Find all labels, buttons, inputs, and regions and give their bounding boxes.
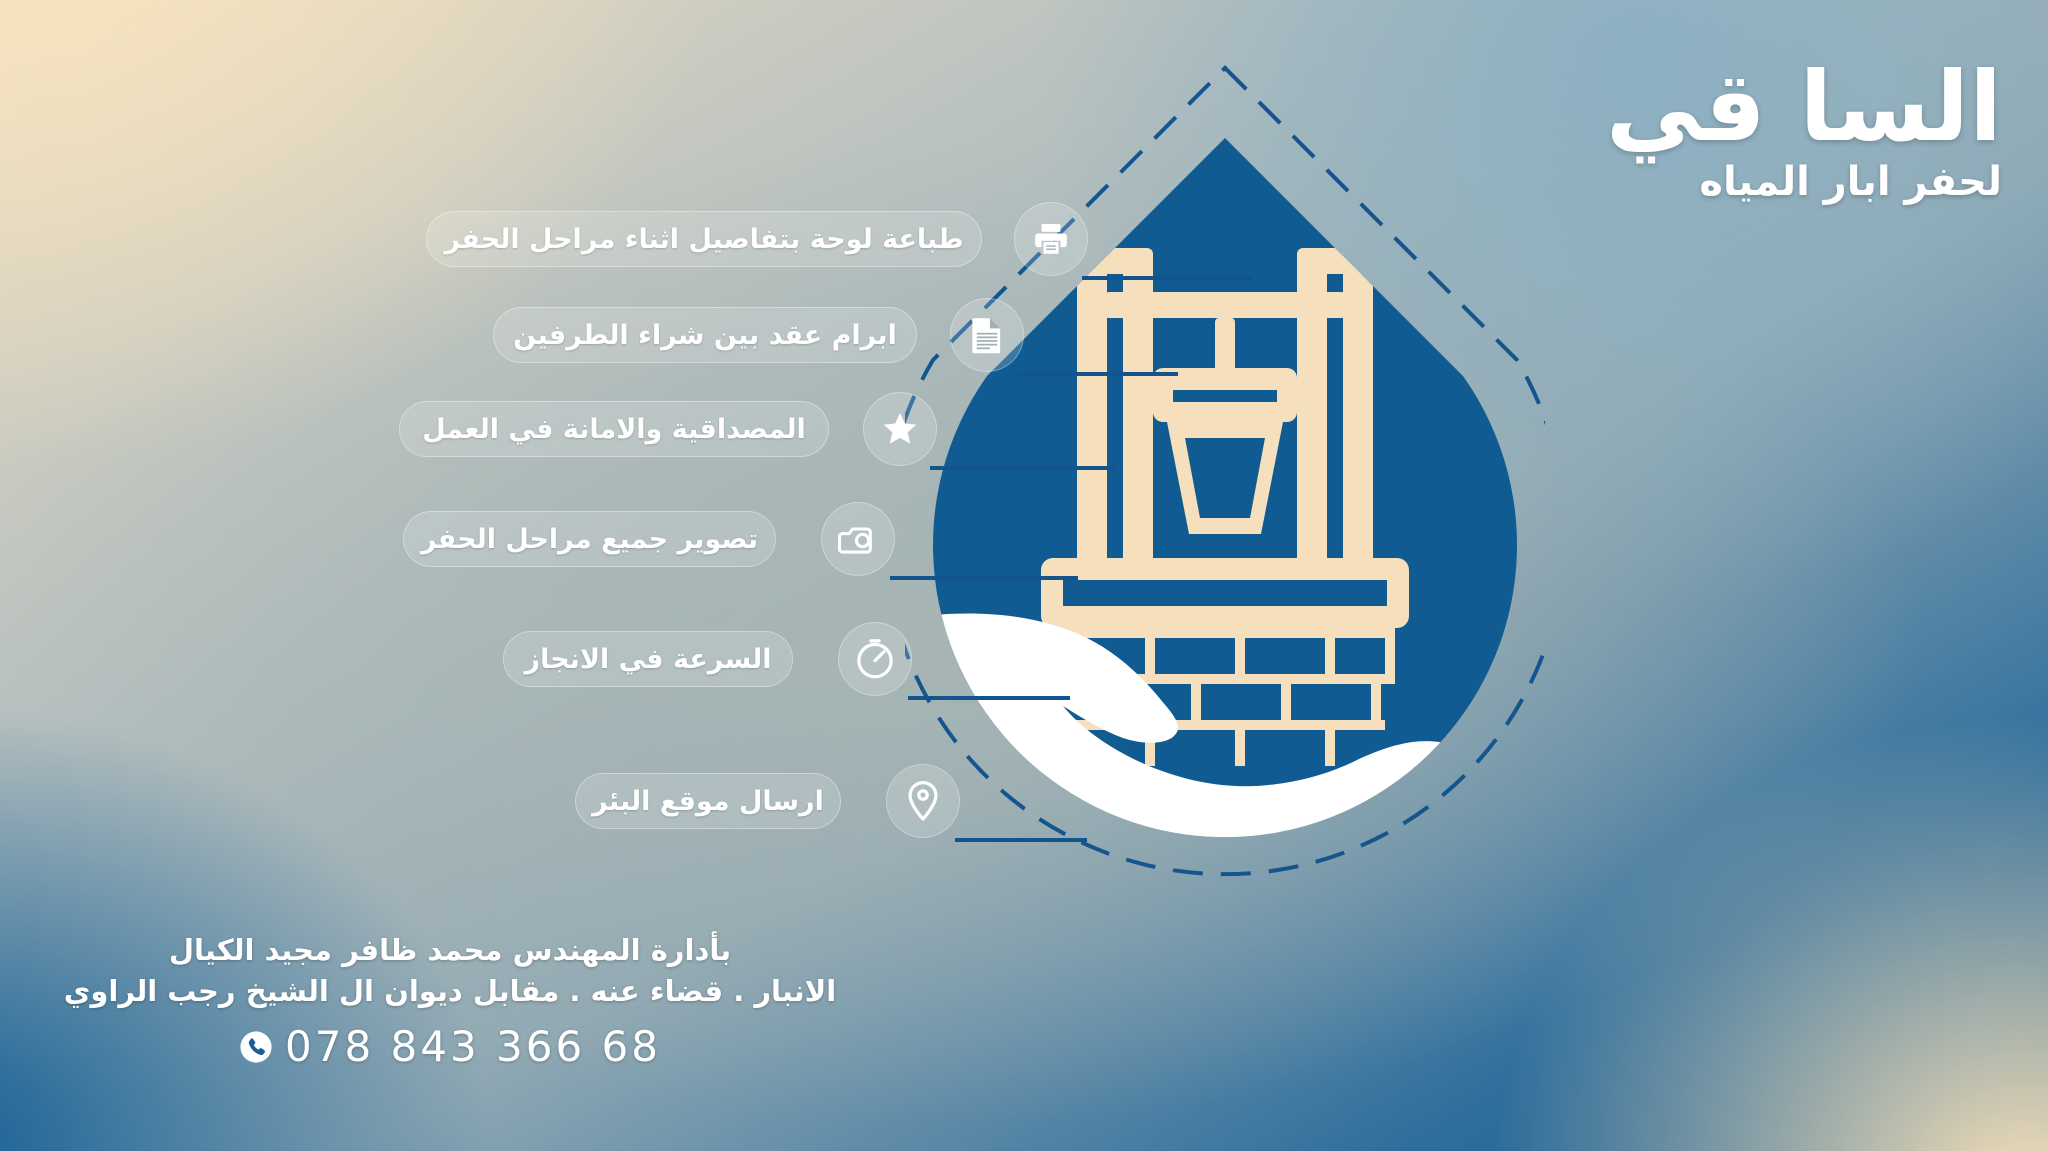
phone-icon — [239, 1030, 273, 1064]
feature-label-2: ابرام عقد بين شراء الطرفين — [513, 320, 897, 351]
clock-icon-button[interactable] — [838, 622, 912, 696]
footer-management-line: بأدارة المهندس محمد ظافر مجيد الكيال — [0, 930, 900, 971]
footer-contact-block: بأدارة المهندس محمد ظافر مجيد الكيال الا… — [0, 930, 900, 1071]
clock-icon — [854, 638, 896, 680]
location-pin-icon-button[interactable] — [886, 764, 960, 838]
connector-line-4 — [890, 576, 1078, 580]
document-icon-button[interactable] — [950, 298, 1024, 372]
footer-address-line: الانبار . قضاء عنه . مقابل ديوان ال الشي… — [0, 971, 900, 1012]
phone-row[interactable]: 078 843 366 68 — [0, 1022, 900, 1071]
brand-logo: السا قي لحفر ابار المياه — [1606, 62, 2002, 205]
connector-line-6 — [955, 838, 1087, 842]
feature-label-4: تصوير جميع مراحل الحفر — [421, 524, 758, 555]
connector-line-2 — [1018, 372, 1178, 376]
feature-pill-5[interactable]: السرعة في الانجاز — [503, 631, 793, 687]
location-pin-icon — [906, 780, 940, 822]
document-icon — [969, 316, 1005, 354]
phone-number: 078 843 366 68 — [285, 1022, 661, 1071]
poster-canvas: طباعة لوحة بتفاصيل اثناء مراحل الحفر ابر… — [0, 0, 2048, 1151]
brand-tagline: لحفر ابار المياه — [1606, 159, 2002, 205]
connector-line-1 — [1082, 276, 1252, 280]
feature-pill-6[interactable]: ارسال موقع البئر — [575, 773, 841, 829]
connector-line-5 — [908, 696, 1070, 700]
water-droplet-graphic — [905, 60, 1545, 1060]
feature-label-6: ارسال موقع البئر — [592, 786, 824, 817]
brand-name: السا قي — [1606, 62, 2002, 153]
connector-line-3 — [930, 466, 1115, 470]
printer-icon-button[interactable] — [1014, 202, 1088, 276]
camera-icon-button[interactable] — [821, 502, 895, 576]
feature-label-3: المصداقية والامانة في العمل — [422, 414, 806, 445]
feature-pill-1[interactable]: طباعة لوحة بتفاصيل اثناء مراحل الحفر — [426, 211, 982, 267]
feature-pill-4[interactable]: تصوير جميع مراحل الحفر — [403, 511, 776, 567]
star-icon-button[interactable] — [863, 392, 937, 466]
feature-label-5: السرعة في الانجاز — [525, 644, 772, 675]
camera-icon — [838, 521, 878, 557]
feature-pill-3[interactable]: المصداقية والامانة في العمل — [399, 401, 829, 457]
feature-pill-2[interactable]: ابرام عقد بين شراء الطرفين — [493, 307, 917, 363]
droplet-solid-shape — [905, 60, 1545, 1060]
feature-label-1: طباعة لوحة بتفاصيل اثناء مراحل الحفر — [445, 224, 964, 255]
star-icon — [880, 409, 920, 449]
printer-icon — [1032, 220, 1070, 258]
